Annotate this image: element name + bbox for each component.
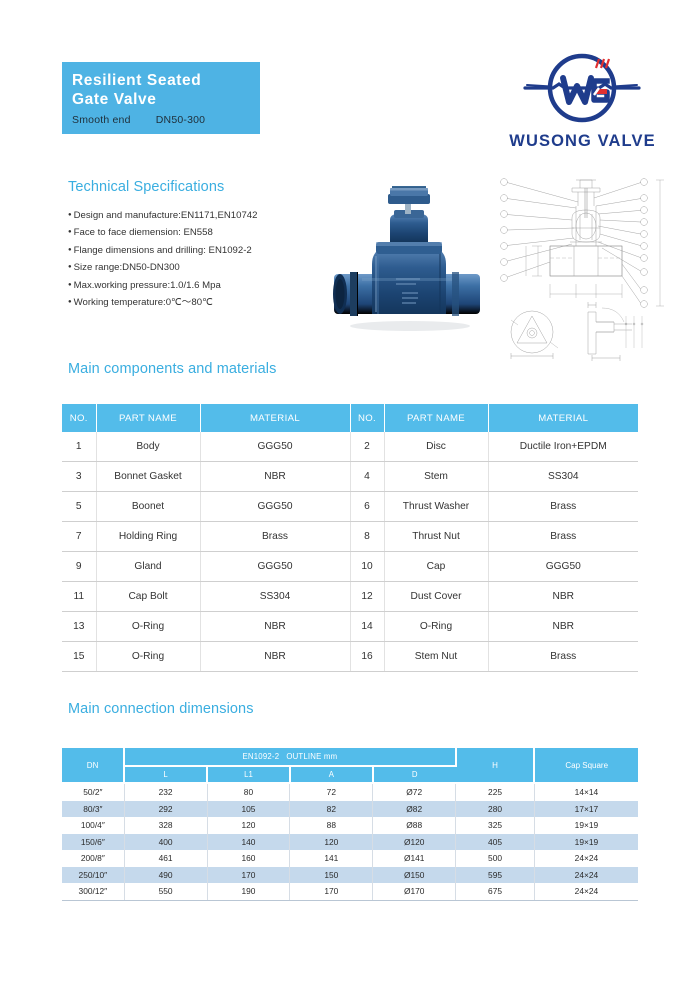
cell-l: 292 (124, 801, 207, 818)
cell-no: 8 (350, 522, 384, 552)
cell-cap-square: 24×24 (534, 850, 638, 867)
cell-part-name: O-Ring (384, 612, 488, 642)
cell-part-name: Cap (384, 552, 488, 582)
cell-cap-square: 24×24 (534, 883, 638, 900)
table-row: 200/8″ 461 160 141 Ø141 500 24×24 (62, 850, 638, 867)
cell-h: 595 (456, 867, 535, 884)
cell-part-name: Stem Nut (384, 642, 488, 672)
cell-l1: 105 (207, 801, 290, 818)
cell-h: 675 (456, 883, 535, 900)
cell-l: 550 (124, 883, 207, 900)
cell-part-name: Dust Cover (384, 582, 488, 612)
cell-dn: 100/4″ (62, 817, 124, 834)
table-row: 150/6″ 400 140 120 Ø120 405 19×19 (62, 834, 638, 851)
cell-l1: 140 (207, 834, 290, 851)
table-row: 11 Cap Bolt SS304 12 Dust Cover NBR (62, 582, 638, 612)
column-header-h: H (456, 748, 535, 783)
cell-part-name: Disc (384, 432, 488, 462)
cell-part-name: Thrust Nut (384, 522, 488, 552)
cap-profile-drawing (588, 302, 643, 361)
cell-material: GGG50 (200, 432, 350, 462)
cell-material: NBR (200, 642, 350, 672)
table-row: 15 O-Ring NBR 16 Stem Nut Brass (62, 642, 638, 672)
cell-l1: 160 (207, 850, 290, 867)
cell-no: 13 (62, 612, 96, 642)
spec-item: Flange dimensions and drilling: EN1092-2 (68, 242, 330, 259)
spec-item: Face to face diemension: EN558 (68, 224, 330, 241)
cell-part-name: Holding Ring (96, 522, 200, 552)
cell-dn: 50/2″ (62, 783, 124, 801)
column-header-partname-right: PART NAME (384, 404, 488, 432)
column-group-header-outline: EN1092-2 OUTLINE mm (124, 748, 456, 766)
cell-no: 2 (350, 432, 384, 462)
cell-cap-square: 14×14 (534, 783, 638, 801)
cell-part-name: Body (96, 432, 200, 462)
cell-l: 400 (124, 834, 207, 851)
cell-l: 232 (124, 783, 207, 801)
cell-material: SS304 (200, 582, 350, 612)
cell-a: 120 (290, 834, 373, 851)
table-header-row-top: DN EN1092-2 OUTLINE mm H Cap Square (62, 748, 638, 766)
cell-h: 405 (456, 834, 535, 851)
cell-no: 7 (62, 522, 96, 552)
column-header-material-right: MATERIAL (488, 404, 638, 432)
column-header-dn: DN (62, 748, 124, 783)
cell-material: Brass (488, 522, 638, 552)
valve-technical-drawings (492, 172, 678, 362)
cell-l: 490 (124, 867, 207, 884)
company-logo: WUSONG VALVE (495, 48, 670, 151)
cell-l1: 190 (207, 883, 290, 900)
company-name: WUSONG VALVE (495, 132, 670, 151)
cell-part-name: O-Ring (96, 612, 200, 642)
column-header-no-right: NO. (350, 404, 384, 432)
cell-l: 328 (124, 817, 207, 834)
table-row: 3 Bonnet Gasket NBR 4 Stem SS304 (62, 462, 638, 492)
cell-part-name: Cap Bolt (96, 582, 200, 612)
table-row: 100/4″ 328 120 88 Ø88 325 19×19 (62, 817, 638, 834)
cell-h: 500 (456, 850, 535, 867)
cell-part-name: Gland (96, 552, 200, 582)
cell-part-name: Thrust Washer (384, 492, 488, 522)
cell-h: 280 (456, 801, 535, 818)
cell-a: 82 (290, 801, 373, 818)
cell-no: 4 (350, 462, 384, 492)
cell-d: Ø170 (373, 883, 456, 900)
dimensions-heading: Main connection dimensions (68, 701, 254, 717)
callout-balloons-right (594, 179, 647, 308)
table-row: 300/12″ 550 190 170 Ø170 675 24×24 (62, 883, 638, 900)
cell-material: NBR (200, 462, 350, 492)
cell-no: 14 (350, 612, 384, 642)
table-row: 1 Body GGG50 2 Disc Ductile Iron+EPDM (62, 432, 638, 462)
cell-a: 88 (290, 817, 373, 834)
table-row: 13 O-Ring NBR 14 O-Ring NBR (62, 612, 638, 642)
cell-material: Brass (488, 492, 638, 522)
cell-d: Ø72 (373, 783, 456, 801)
column-header-partname-left: PART NAME (96, 404, 200, 432)
cell-material: Brass (200, 522, 350, 552)
cell-no: 11 (62, 582, 96, 612)
cell-no: 12 (350, 582, 384, 612)
cell-material: GGG50 (488, 552, 638, 582)
cell-dn: 200/8″ (62, 850, 124, 867)
cell-h: 325 (456, 817, 535, 834)
column-header-d: D (373, 766, 456, 783)
cell-d: Ø141 (373, 850, 456, 867)
product-title: Resilient Seated Gate Valve (72, 71, 260, 109)
product-end-type: Smooth end (72, 114, 131, 126)
cell-no: 3 (62, 462, 96, 492)
cell-part-name: Bonnet Gasket (96, 462, 200, 492)
cell-material: Brass (488, 642, 638, 672)
product-title-line2: Gate Valve (72, 90, 260, 109)
cell-no: 16 (350, 642, 384, 672)
cell-dn: 250/10″ (62, 867, 124, 884)
callout-balloons-left (501, 179, 578, 282)
cell-l: 461 (124, 850, 207, 867)
technical-specifications-list: Design and manufacture:EN1171,EN10742 Fa… (68, 207, 330, 311)
cell-material: Ductile Iron+EPDM (488, 432, 638, 462)
table-row: 50/2″ 232 80 72 Ø72 225 14×14 (62, 783, 638, 801)
cell-l1: 120 (207, 817, 290, 834)
cell-a: 150 (290, 867, 373, 884)
column-header-l: L (124, 766, 207, 783)
cell-no: 9 (62, 552, 96, 582)
wusong-logo-icon (495, 48, 670, 130)
cap-end-view-drawing (511, 311, 558, 359)
cell-no: 5 (62, 492, 96, 522)
column-header-a: A (290, 766, 373, 783)
cell-cap-square: 19×19 (534, 817, 638, 834)
table-row: 5 Boonet GGG50 6 Thrust Washer Brass (62, 492, 638, 522)
cell-part-name: Stem (384, 462, 488, 492)
technical-specifications-heading: Technical Specifications (68, 179, 224, 195)
cross-section-drawing (550, 180, 622, 276)
dimension-lines (526, 180, 664, 306)
cell-l1: 80 (207, 783, 290, 801)
spec-item: Size range:DN50-DN300 (68, 259, 330, 276)
product-title-banner: Resilient Seated Gate Valve Smooth end D… (62, 62, 260, 134)
cell-h: 225 (456, 783, 535, 801)
components-heading: Main components and materials (68, 361, 276, 377)
cell-a: 170 (290, 883, 373, 900)
table-row: 250/10″ 490 170 150 Ø150 595 24×24 (62, 867, 638, 884)
table-row: 9 Gland GGG50 10 Cap GGG50 (62, 552, 638, 582)
cell-l1: 170 (207, 867, 290, 884)
cell-dn: 300/12″ (62, 883, 124, 900)
product-subtitle: Smooth end DN50-300 (72, 114, 260, 126)
cell-cap-square: 17×17 (534, 801, 638, 818)
product-size-range: DN50-300 (156, 114, 205, 126)
cell-no: 15 (62, 642, 96, 672)
cell-part-name: O-Ring (96, 642, 200, 672)
table-header-row: NO. PART NAME MATERIAL NO. PART NAME MAT… (62, 404, 638, 432)
cell-material: GGG50 (200, 552, 350, 582)
cell-d: Ø120 (373, 834, 456, 851)
product-title-line1: Resilient Seated (72, 71, 260, 90)
cell-material: SS304 (488, 462, 638, 492)
table-row: 80/3″ 292 105 82 Ø82 280 17×17 (62, 801, 638, 818)
column-header-no-left: NO. (62, 404, 96, 432)
cell-a: 72 (290, 783, 373, 801)
cell-d: Ø88 (373, 817, 456, 834)
components-materials-table: NO. PART NAME MATERIAL NO. PART NAME MAT… (62, 404, 638, 672)
cell-no: 1 (62, 432, 96, 462)
column-header-cap-square: Cap Square (534, 748, 638, 783)
cell-a: 141 (290, 850, 373, 867)
table-row: 7 Holding Ring Brass 8 Thrust Nut Brass (62, 522, 638, 552)
spec-item: Working temperature:0℃～80℃ (68, 294, 330, 311)
cell-material: NBR (488, 582, 638, 612)
cell-cap-square: 19×19 (534, 834, 638, 851)
cell-d: Ø150 (373, 867, 456, 884)
cell-no: 6 (350, 492, 384, 522)
cell-material: NBR (488, 612, 638, 642)
cell-no: 10 (350, 552, 384, 582)
cell-part-name: Boonet (96, 492, 200, 522)
cell-dn: 150/6″ (62, 834, 124, 851)
cell-material: NBR (200, 612, 350, 642)
column-header-l1: L1 (207, 766, 290, 783)
cell-cap-square: 24×24 (534, 867, 638, 884)
gate-valve-product-photo (332, 186, 484, 334)
cell-dn: 80/3″ (62, 801, 124, 818)
spec-item: Design and manufacture:EN1171,EN10742 (68, 207, 330, 224)
cell-d: Ø82 (373, 801, 456, 818)
spec-item: Max.working pressure:1.0/1.6 Mpa (68, 277, 330, 294)
cell-material: GGG50 (200, 492, 350, 522)
column-header-material-left: MATERIAL (200, 404, 350, 432)
connection-dimensions-table: DN EN1092-2 OUTLINE mm H Cap Square L L1… (62, 748, 638, 901)
